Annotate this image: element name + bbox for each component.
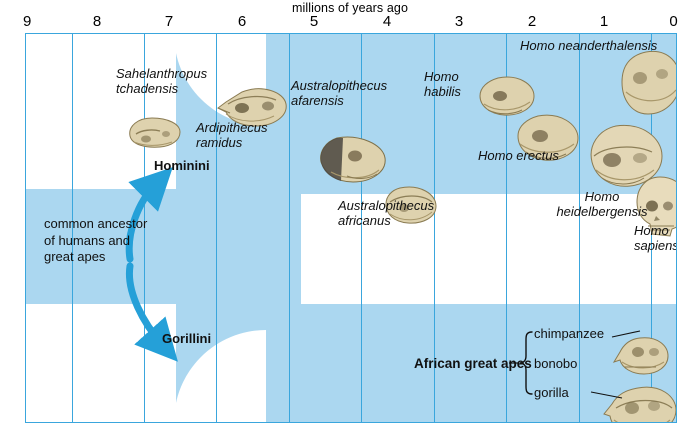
ape-member-bonobo: bonobo xyxy=(534,356,577,371)
ape-bracket-lines xyxy=(26,34,677,423)
tick-label-3: 3 xyxy=(455,14,463,29)
tick-label-4: 4 xyxy=(383,14,391,29)
axis-title: millions of years ago xyxy=(0,1,700,15)
chimpanzee-leader-line xyxy=(612,331,640,337)
tick-label-5: 5 xyxy=(310,14,318,29)
african-great-apes-title: African great apes xyxy=(414,356,532,371)
african-great-apes-group: African great apes chimpanzee bonobo gor… xyxy=(26,34,677,423)
plot-area: Sahelanthropus tchadensis Ardipithecus r… xyxy=(25,33,677,423)
tick-label-0: 0 xyxy=(669,14,677,29)
ape-member-chimpanzee: chimpanzee xyxy=(534,326,604,341)
tick-label-2: 2 xyxy=(528,14,536,29)
tick-label-8: 8 xyxy=(93,14,101,29)
evolution-timeline-figure: millions of years ago 9 8 7 6 5 4 3 2 1 … xyxy=(0,0,700,435)
ape-member-gorilla: gorilla xyxy=(534,385,569,400)
tick-label-7: 7 xyxy=(165,14,173,29)
tick-label-1: 1 xyxy=(600,14,608,29)
gorilla-leader-line xyxy=(591,392,622,398)
tick-label-6: 6 xyxy=(238,14,246,29)
tick-label-9: 9 xyxy=(23,14,31,29)
